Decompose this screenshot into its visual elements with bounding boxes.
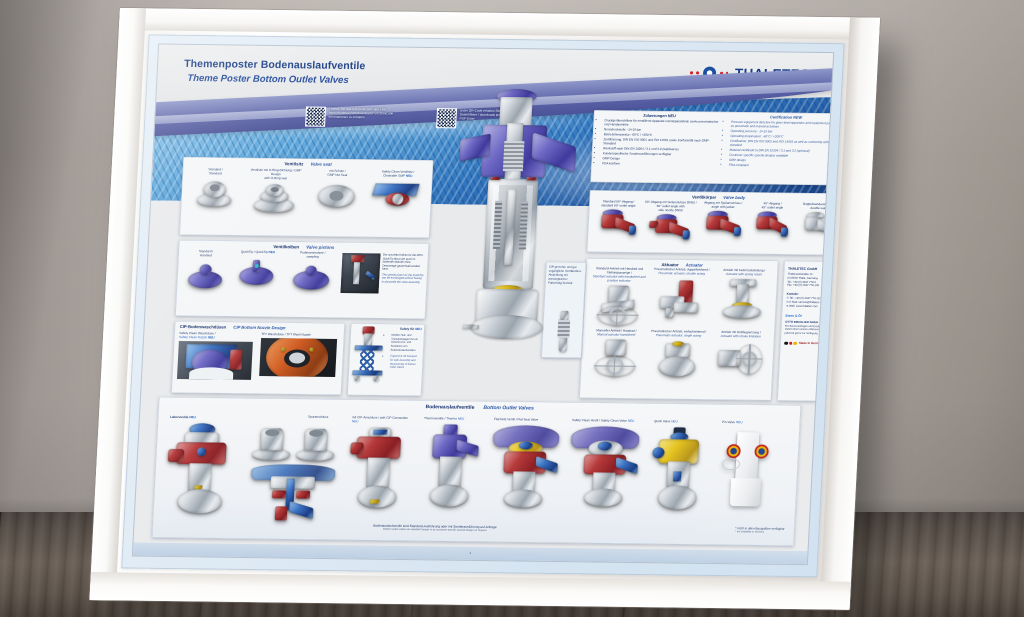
nozzle-render	[296, 429, 336, 461]
item-label: Pneumatischer Antrieb, einfachwirkend / …	[648, 329, 710, 338]
german-flag-icon	[784, 341, 797, 345]
partner-company: OTTO EMAILLIER GmbH	[785, 320, 833, 325]
frame-mat: Themenposter Bodenauslaufventile Theme P…	[121, 34, 845, 577]
actuator-item: Pneumatischer Antrieb, doppeltwirkend / …	[648, 267, 713, 330]
product-render	[347, 427, 407, 512]
product-item: Safety Clean Ventil / Safety Clean Valve…	[568, 418, 647, 509]
company-name: THALETEC GmbH	[788, 267, 833, 272]
valve-seat-render	[373, 181, 420, 210]
product-item: Pin-Valve NEU	[718, 420, 781, 509]
valve-body-render	[648, 214, 691, 241]
badge-new: NEU	[268, 250, 275, 254]
item-label: Standard 60°-Abgang /standard 60° outlet…	[594, 199, 643, 208]
product-item: Laborventile NEU	[165, 415, 246, 516]
framed-poster[interactable]: Themenposter Bodenauslaufventile Theme P…	[90, 8, 880, 610]
lift-cart-render	[351, 326, 385, 388]
product-label: Spuranschluss	[308, 415, 329, 419]
card-valve-seat: VentilsitzValve seat Standard /Standard	[179, 157, 433, 238]
qr-code-icon[interactable]	[436, 108, 457, 128]
product-item: mit CIP-Anschluss / with CIP Connection …	[347, 415, 414, 512]
qr-block[interactable]: Thema: Sie das QR-Code oder den Link htt…	[305, 106, 401, 127]
product-item: Quick Valve NEU	[649, 419, 710, 512]
approval-bullet: FDA compliant	[729, 163, 833, 169]
item-label: Pneumatischer Antrieb, doppeltwirkend / …	[651, 267, 713, 276]
product-render	[249, 464, 340, 523]
fax-line: Fax: +49 (0) 3947 778-199	[787, 284, 833, 288]
valve-seat-item: mit Schutz /GMP Nut Seal	[307, 169, 365, 218]
actuator-render	[716, 342, 764, 379]
valve-seat-render	[195, 179, 234, 207]
strip-footnote-right: * nicht in allen Baugrößen verfügbar * n…	[735, 526, 785, 534]
product-render	[718, 428, 776, 509]
item-label: Antrieb mit Hubbegrenzung / Actuator wit…	[711, 330, 771, 339]
partner-title: Eisen & Öl	[786, 314, 834, 319]
badge-new: NEU	[458, 417, 465, 421]
badge-new: NEU	[415, 327, 422, 331]
item-label: Ventilsitz mit O-Ring-Dichtung / GMP Des…	[246, 168, 306, 181]
partner-note: Für Serviceanfragen und Ersatzteilbedarf…	[785, 325, 834, 336]
item-label: 60°-Abgang mit Seitenstutzen DN50 / 60° …	[644, 200, 697, 213]
product-label: Pin-Valve NEU	[722, 420, 780, 425]
actuator-item: Antrieb mit Federrückstellung / Actuator…	[711, 268, 774, 331]
made-in-germany: Made in Germany	[784, 341, 833, 346]
valve-piston-item: Probenentnahme /sampling	[284, 250, 339, 297]
product-label: Quick Valve NEU	[654, 419, 710, 424]
actuator-item: Standard-Antrieb mit Handrad und Stellun…	[587, 266, 650, 329]
valve-seat-item: Standard /Standard	[186, 167, 242, 216]
badge-new: NEU	[736, 420, 743, 424]
qr-caption: Thema: Sie das QR-Code oder den Link htt…	[328, 107, 401, 121]
item-label: Standard-Antrieb mit Handrad und Stellun…	[589, 266, 649, 283]
bottom-products-strip: BodenauslaufventileBottom Outlet Valves …	[152, 397, 801, 546]
safety-kit-bullet: Mobiler Hub- und Transportwagen für ein …	[391, 334, 422, 353]
card-cip-title: CIP-Bodenwaschdüsen CIP Bottom Nozzle De…	[180, 324, 340, 331]
valve-body-render	[597, 209, 638, 236]
valve-body-render	[752, 211, 791, 237]
badge-new: NEW	[793, 116, 802, 120]
product-item	[249, 464, 342, 523]
piston-render	[239, 260, 274, 286]
valve-body-item: Abgang mit Spülanschluss /angle with jac…	[697, 201, 748, 244]
nozzle-render	[252, 428, 292, 460]
contact-web[interactable]: ⊕ Web: www.thaletec.com	[786, 305, 833, 309]
product-label: Thermoventile / Thermo NEU	[424, 416, 486, 421]
valve-seat-render	[318, 182, 355, 208]
strip-footnote: Bodenauslaufventile sind Standard-Ausfüh…	[373, 524, 497, 533]
piston-render	[293, 264, 330, 290]
badge-new: NEU	[352, 419, 359, 423]
valve-body-item: Standard 60°-Abgang /standard 60° outlet…	[592, 199, 643, 242]
page-footer: 1	[133, 543, 808, 565]
valve-seat-render	[253, 183, 297, 214]
piston-note: Der spezielle Kolben für die MTD-QuickTi…	[381, 252, 425, 299]
hero-valve-cutaway-render	[442, 88, 577, 390]
product-item	[252, 428, 292, 460]
cip-nozzle-photo-1	[177, 341, 253, 380]
valve-seat-item: Ventilsitz mit O-Ring-Dichtung / GMP Des…	[244, 168, 306, 217]
valve-body-item: 45°-Abgang /45° outlet angle	[747, 201, 796, 244]
badge-new: NEU	[628, 419, 635, 423]
approval-bullet: FDA konform	[602, 161, 717, 167]
product-render	[490, 425, 562, 508]
card-approvals: Zulassungen NEU Druckgeräterichtlinie fü…	[590, 110, 833, 185]
card-cip-nozzles: CIP-Bodenwaschdüsen CIP Bottom Nozzle De…	[171, 321, 345, 395]
cip-label-1: Safety Clean Waschdüse / Safety Clean No…	[179, 331, 255, 340]
piston-photo	[340, 251, 380, 298]
product-label: Laborventile NEU	[170, 415, 246, 420]
valve-body-render	[800, 212, 833, 238]
badge-new: NEU	[189, 415, 196, 419]
badge-new: NEU	[208, 335, 215, 339]
actuator-render	[593, 285, 643, 326]
card-valve-piston: VentilkolbenValve pistons Standard /stan…	[175, 240, 429, 319]
product-item: Flachsitz-Ventil / Flat Seat Valve	[490, 417, 565, 508]
actuator-render	[654, 341, 700, 378]
actuator-render	[590, 339, 640, 378]
badge-new: NEU	[668, 114, 676, 118]
strip-title: BodenauslaufventileBottom Outlet Valves	[425, 404, 534, 411]
safety-kit-title: Safety Kit NEU	[387, 327, 422, 331]
note-de: Der spezielle Kolben für die MTD-QuickTi…	[382, 254, 424, 272]
page-title-de: Themenposter Bodenauslaufventile	[184, 58, 366, 72]
product-label: mit CIP-Anschluss / with CIP Connection …	[352, 415, 414, 424]
logo-dot-icon	[696, 71, 699, 74]
valve-body-render	[701, 211, 742, 238]
cip-nozzle-photo-2	[259, 338, 337, 377]
qr-code-icon[interactable]	[305, 106, 326, 126]
picture-frame: Themenposter Bodenauslaufventile Theme P…	[90, 8, 880, 610]
card-valve-body: VentilkörperValve body Standard 60°-Abga…	[587, 190, 833, 255]
product-label: Safety Clean Ventil / Safety Clean Valve…	[572, 418, 646, 423]
badge-new: NEU	[406, 174, 413, 178]
actuator-item: Manueller Antrieb / Handrad / Manual act…	[584, 328, 646, 381]
page-title-en: Theme Poster Bottom Outlet Valves	[187, 73, 349, 86]
card-contact: THALETEC GmbH Thalerwerkstraße 13 D-0650…	[777, 261, 833, 402]
logo-dot-icon	[690, 72, 692, 74]
made-in-label: Made in Germany	[799, 341, 824, 345]
room-scene: Themenposter Bodenauslaufventile Theme P…	[0, 0, 1024, 617]
piston-render	[187, 263, 222, 289]
poster-artwork: Themenposter Bodenauslaufventile Theme P…	[133, 45, 833, 565]
actuator-render	[719, 279, 767, 320]
note-en: The special piston for the QuickTip can …	[382, 273, 424, 284]
valve-seat-item: Safety Clean Ventilsitz / Cleanable GMP …	[367, 169, 427, 218]
cip-label-2: TFT Waschdüse / TFT Wash Nozzle	[261, 332, 337, 337]
card-actuator: AktuatorActuator Standard-Antrieb mit Ha…	[579, 258, 778, 400]
actuator-render	[655, 278, 705, 319]
product-render	[568, 426, 642, 509]
product-render	[419, 424, 479, 509]
actuator-item: Antrieb mit Hubbegrenzung / Actuator wit…	[709, 330, 771, 383]
product-render	[165, 423, 240, 516]
valve-body-item: 60°-Abgang mit Seitenstutzen DN50 / 60° …	[643, 200, 697, 243]
product-item: Thermoventile / Thermo NEU	[419, 416, 486, 509]
product-item	[296, 429, 336, 461]
valve-piston-item: QuickTip / QuickTip NEU	[230, 250, 283, 297]
badge-new: NEU	[671, 419, 678, 423]
valve-body-item: Doppelwandausführung /double walled	[796, 202, 833, 245]
safety-kit-bullet: Ergonomic lift transport for safe assemb…	[390, 355, 421, 370]
product-label: Flachsitz-Ventil / Flat Seat Valve	[494, 417, 564, 422]
product-render	[649, 427, 705, 512]
card-safety-kit: Safety Kit NEU Mobiler Hub- und Transpor…	[347, 323, 425, 396]
actuator-item: Pneumatischer Antrieb, einfachwirkend / …	[645, 329, 709, 382]
valve-piston-item: Standard /standard	[180, 249, 229, 296]
